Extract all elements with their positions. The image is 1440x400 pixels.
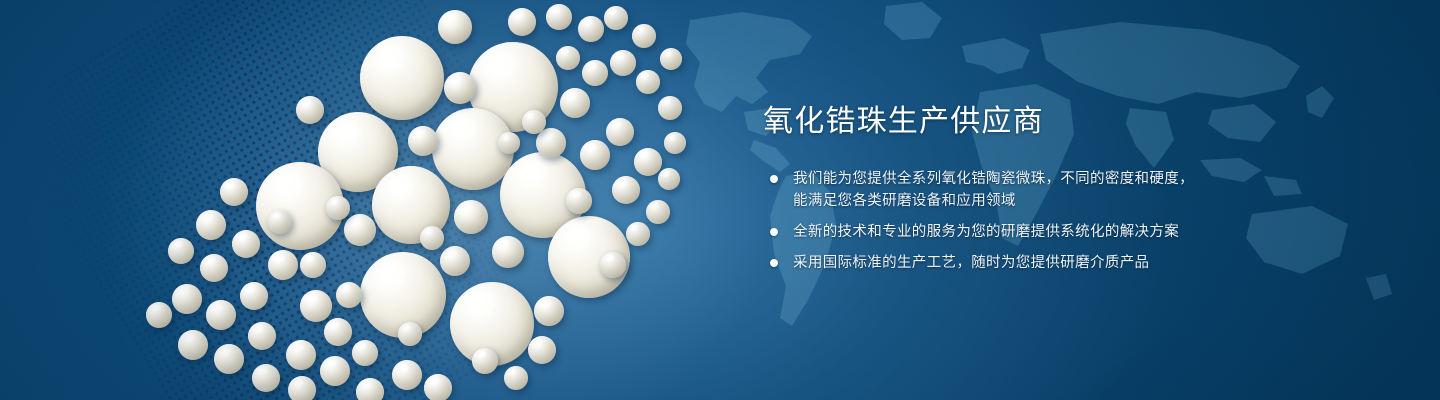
list-item-line: 能满足您各类研磨设备和应用领域 [793, 190, 1283, 212]
banner-copy: 氧化锆珠生产供应商 我们能为您提供全系列氧化锆陶瓷微珠，不同的密度和硬度， 能满… [763, 104, 1283, 274]
bullet-dot-icon [770, 228, 778, 236]
bullet-dot-icon [770, 175, 778, 183]
list-item-line: 全新的技术和专业的服务为您的研磨提供系统化的解决方案 [793, 221, 1283, 243]
list-item: 我们能为您提供全系列氧化锆陶瓷微珠，不同的密度和硬度， 能满足您各类研磨设备和应… [763, 168, 1283, 212]
bullet-dot-icon [770, 259, 778, 267]
hero-banner: 氧化锆珠生产供应商 我们能为您提供全系列氧化锆陶瓷微珠，不同的密度和硬度， 能满… [0, 0, 1440, 400]
list-item: 全新的技术和专业的服务为您的研磨提供系统化的解决方案 [763, 221, 1283, 243]
list-item-line: 我们能为您提供全系列氧化锆陶瓷微珠，不同的密度和硬度， [793, 168, 1283, 190]
page-title: 氧化锆珠生产供应商 [763, 104, 1283, 140]
feature-list: 我们能为您提供全系列氧化锆陶瓷微珠，不同的密度和硬度， 能满足您各类研磨设备和应… [763, 168, 1283, 274]
list-item-line: 采用国际标准的生产工艺，随时为您提供研磨介质产品 [793, 252, 1283, 274]
list-item: 采用国际标准的生产工艺，随时为您提供研磨介质产品 [763, 252, 1283, 274]
